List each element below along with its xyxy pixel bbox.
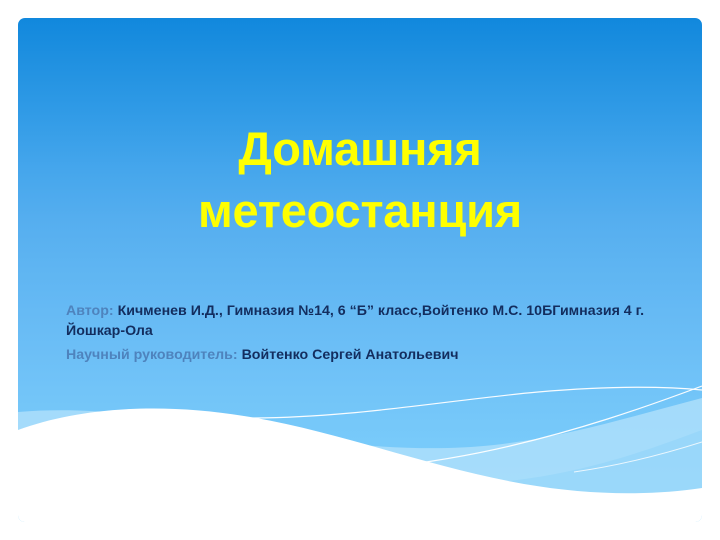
slide-background: Домашняя метеостанция Автор: Кичменев И.…: [18, 18, 702, 522]
supervisor-line: Научный руководитель: Войтенко Сергей Ан…: [66, 345, 686, 365]
author-label: Автор:: [66, 303, 114, 319]
wave-white-body-icon: [18, 408, 702, 522]
wave-hairline-a-icon: [240, 387, 702, 418]
wave-light-band-icon: [18, 398, 702, 522]
subtitle-block: Автор: Кичменев И.Д., Гимназия №14, 6 “Б…: [66, 301, 686, 369]
title-line-2: метеостанция: [66, 180, 654, 242]
author-value: Кичменев И.Д., Гимназия №14, 6 “Б” класс…: [66, 303, 644, 339]
title-line-1: Домашняя: [66, 118, 654, 180]
wave-hairline-c-icon: [574, 442, 702, 472]
wave-decoration: [18, 372, 702, 522]
wave-light-band-2-icon: [18, 430, 702, 522]
wave-hairline-b-icon: [280, 386, 702, 476]
page-title: Домашняя метеостанция: [66, 118, 654, 242]
supervisor-value: Войтенко Сергей Анатольевич: [242, 347, 459, 363]
supervisor-label: Научный руководитель:: [66, 347, 238, 363]
author-line: Автор: Кичменев И.Д., Гимназия №14, 6 “Б…: [66, 301, 686, 341]
presentation-slide: Домашняя метеостанция Автор: Кичменев И.…: [0, 0, 720, 540]
